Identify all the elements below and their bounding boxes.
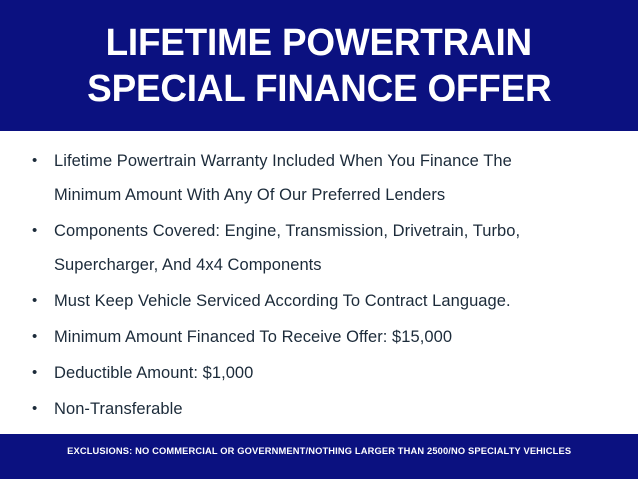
footer-banner: EXCLUSIONS: NO COMMERCIAL OR GOVERNMENT/…: [0, 434, 638, 479]
bullet-point-icon: •: [32, 356, 44, 390]
list-item: • Deductible Amount: $1,000: [22, 356, 618, 390]
list-item: • Must Keep Vehicle Serviced According T…: [22, 284, 618, 318]
page-title-line-2: SPECIAL FINANCE OFFER: [87, 66, 551, 112]
list-item-label-continued: Supercharger, And 4x4 Components: [54, 248, 618, 282]
list-item-label-continued: Minimum Amount With Any Of Our Preferred…: [54, 178, 618, 212]
bullet-point-icon: •: [32, 144, 44, 178]
header-banner: LIFETIME POWERTRAIN SPECIAL FINANCE OFFE…: [0, 0, 638, 131]
list-item-label: Minimum Amount Financed To Receive Offer…: [54, 320, 618, 354]
list-item: • Minimum Amount Financed To Receive Off…: [22, 320, 618, 354]
offer-bullet-list: • Lifetime Powertrain Warranty Included …: [22, 144, 618, 426]
page-title-line-1: LIFETIME POWERTRAIN: [106, 20, 532, 66]
list-item-label: Must Keep Vehicle Serviced According To …: [54, 284, 618, 318]
list-item-label: Lifetime Powertrain Warranty Included Wh…: [54, 144, 618, 178]
bullet-point-icon: •: [32, 284, 44, 318]
list-item: • Lifetime Powertrain Warranty Included …: [22, 144, 618, 212]
bullet-point-icon: •: [32, 320, 44, 354]
list-item-label: Components Covered: Engine, Transmission…: [54, 214, 618, 248]
exclusions-disclaimer: EXCLUSIONS: NO COMMERCIAL OR GOVERNMENT/…: [67, 446, 571, 457]
list-item: • Non-Transferable: [22, 392, 618, 426]
list-item-label: Deductible Amount: $1,000: [54, 356, 618, 390]
offer-details-body: • Lifetime Powertrain Warranty Included …: [0, 131, 638, 434]
list-item: • Components Covered: Engine, Transmissi…: [22, 214, 618, 282]
bullet-point-icon: •: [32, 214, 44, 248]
bullet-point-icon: •: [32, 392, 44, 426]
promo-slide: LIFETIME POWERTRAIN SPECIAL FINANCE OFFE…: [0, 0, 638, 479]
list-item-label: Non-Transferable: [54, 392, 618, 426]
